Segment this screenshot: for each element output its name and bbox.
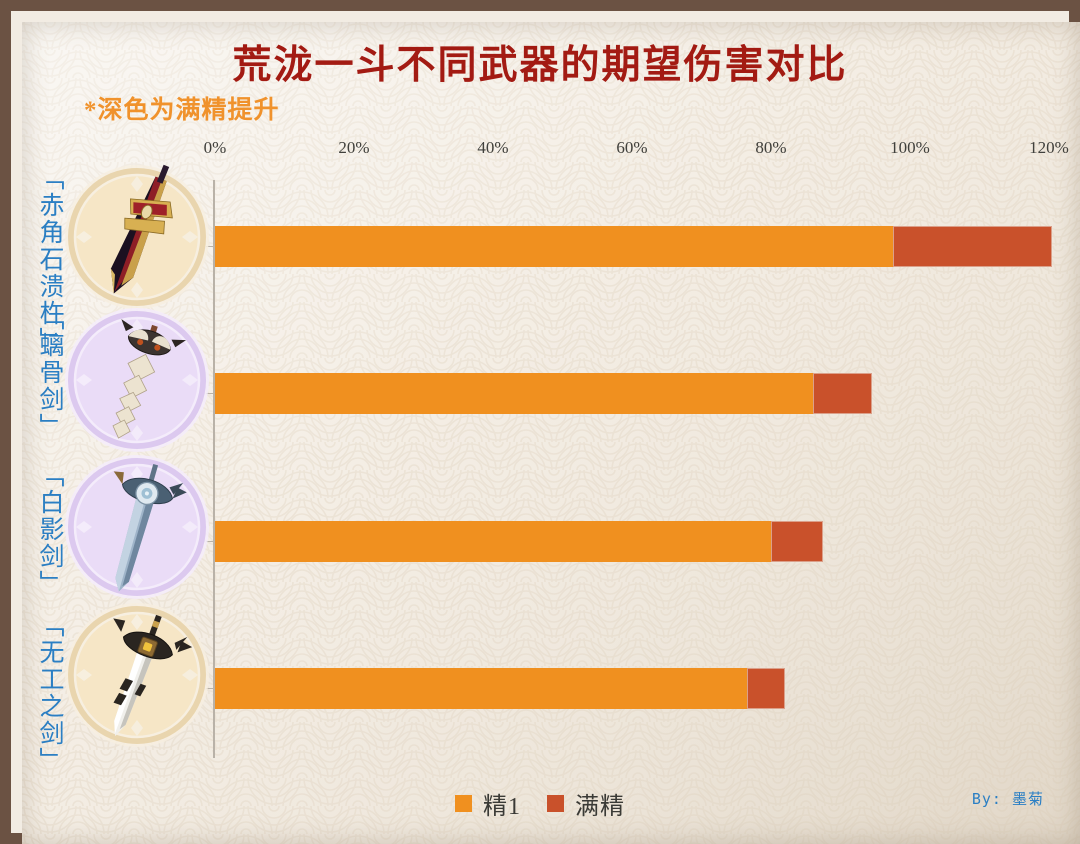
x-axis-tick-label: 100%	[890, 138, 930, 158]
bar-segment-refine1[interactable]	[215, 373, 813, 414]
x-axis-tick-label: 80%	[755, 138, 786, 158]
category-label: 「无工之剑」	[22, 612, 62, 774]
x-axis-tick-label: 60%	[616, 138, 647, 158]
legend-item-maxrefine[interactable]: 满精	[547, 786, 625, 821]
bar-segment-maxrefine[interactable]	[893, 226, 1053, 267]
x-axis-tick-label: 120%	[1029, 138, 1069, 158]
weapon-icon-redhorn	[62, 162, 212, 312]
author-signature: By: 墨菊	[972, 788, 1044, 809]
x-axis-tick-label: 20%	[338, 138, 369, 158]
category-label: 「白影剑」	[22, 462, 62, 597]
chart-title: 荒泷一斗不同武器的期望伤害对比	[0, 34, 1080, 90]
bar-segment-refine1[interactable]	[215, 226, 893, 267]
bar-segment-maxrefine[interactable]	[747, 668, 785, 709]
weapon-icon-serpentspine	[62, 305, 212, 455]
chart-subtitle-note: *深色为满精提升	[84, 90, 280, 126]
weapon-icon-whiteblind	[62, 452, 212, 602]
legend-swatch-maxrefine	[547, 795, 564, 812]
x-axis-tick-label: 0%	[204, 138, 227, 158]
bar-segment-maxrefine[interactable]	[771, 521, 823, 562]
category-label: 「螭骨剑」	[22, 305, 62, 440]
bar-segment-maxrefine[interactable]	[813, 373, 872, 414]
weapon-icon-unforged	[62, 600, 212, 750]
legend-item-refine1[interactable]: 精1	[455, 786, 521, 821]
x-axis-tick-label: 40%	[477, 138, 508, 158]
legend-label-refine1: 精1	[483, 786, 521, 821]
legend-swatch-refine1	[455, 795, 472, 812]
bar-segment-refine1[interactable]	[215, 521, 771, 562]
legend-label-maxrefine: 满精	[575, 786, 625, 821]
bar-segment-refine1[interactable]	[215, 668, 747, 709]
chart-legend: 精1 满精	[0, 786, 1080, 821]
